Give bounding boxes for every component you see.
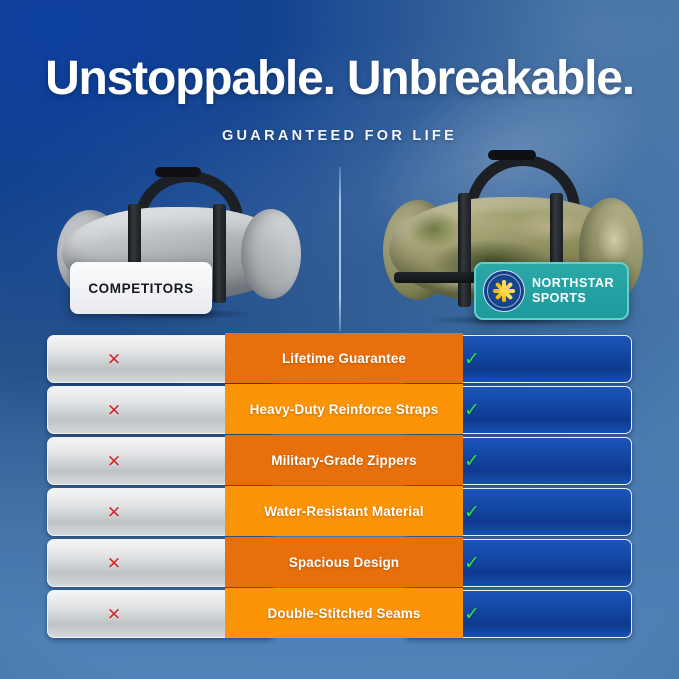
competitors-label-text: COMPETITORS [88,281,193,296]
cross-icon: ✕ [107,453,121,470]
table-row: ✕ Military-Grade Zippers ✓ [0,435,679,485]
feature-label: Water-Resistant Material [264,504,423,519]
feature-cell: Double-Stitched Seams [225,588,463,638]
table-row: ✕ Spacious Design ✓ [0,537,679,587]
bag-strap-left [458,193,471,307]
table-row: ✕ Double-Stitched Seams ✓ [0,588,679,638]
feature-label: Double-Stitched Seams [268,606,421,621]
bag-end-cap-right [241,209,301,299]
check-icon: ✓ [464,605,480,624]
feature-label: Spacious Design [289,555,399,570]
table-row: ✕ Water-Resistant Material ✓ [0,486,679,536]
bag-strap-right [213,204,226,303]
page-title: Unstoppable. Unbreakable. [0,55,679,103]
feature-cell: Heavy-Duty Reinforce Straps [225,384,463,434]
bag-handle-grip [488,150,536,160]
feature-cell: Water-Resistant Material [225,486,463,536]
cross-icon: ✕ [107,555,121,572]
infographic-canvas: Unstoppable. Unbreakable. GUARANTEED FOR… [0,0,679,679]
feature-label: Heavy-Duty Reinforce Straps [250,402,439,417]
competitors-label: COMPETITORS [70,262,212,314]
cross-icon: ✕ [107,351,121,368]
cross-icon: ✕ [107,504,121,521]
northstar-brand-text: NORTHSTAR SPORTS [532,276,614,307]
table-row: ✕ Heavy-Duty Reinforce Straps ✓ [0,384,679,434]
check-icon: ✓ [464,401,480,420]
compass-star-icon [483,270,525,312]
page-subtitle: GUARANTEED FOR LIFE [0,128,679,144]
hero-section: Unstoppable. Unbreakable. GUARANTEED FOR… [0,0,679,160]
feature-cell: Spacious Design [225,537,463,587]
cross-icon: ✕ [107,606,121,623]
northstar-brand-badge: NORTHSTAR SPORTS [474,262,629,320]
feature-cell: Military-Grade Zippers [225,435,463,485]
check-icon: ✓ [464,503,480,522]
feature-label: Military-Grade Zippers [271,453,417,468]
table-row: ✕ Lifetime Guarantee ✓ [0,333,679,383]
bag-handle-grip [155,167,200,177]
cross-icon: ✕ [107,402,121,419]
brand-line-2: SPORTS [532,291,614,306]
comparison-table: ✕ Lifetime Guarantee ✓ ✕ Heavy-Duty Rein… [0,333,679,639]
check-icon: ✓ [464,452,480,471]
brand-line-1: NORTHSTAR [532,276,614,291]
check-icon: ✓ [464,350,480,369]
feature-label: Lifetime Guarantee [282,351,406,366]
feature-cell: Lifetime Guarantee [225,333,463,383]
check-icon: ✓ [464,554,480,573]
vertical-divider [339,167,341,331]
